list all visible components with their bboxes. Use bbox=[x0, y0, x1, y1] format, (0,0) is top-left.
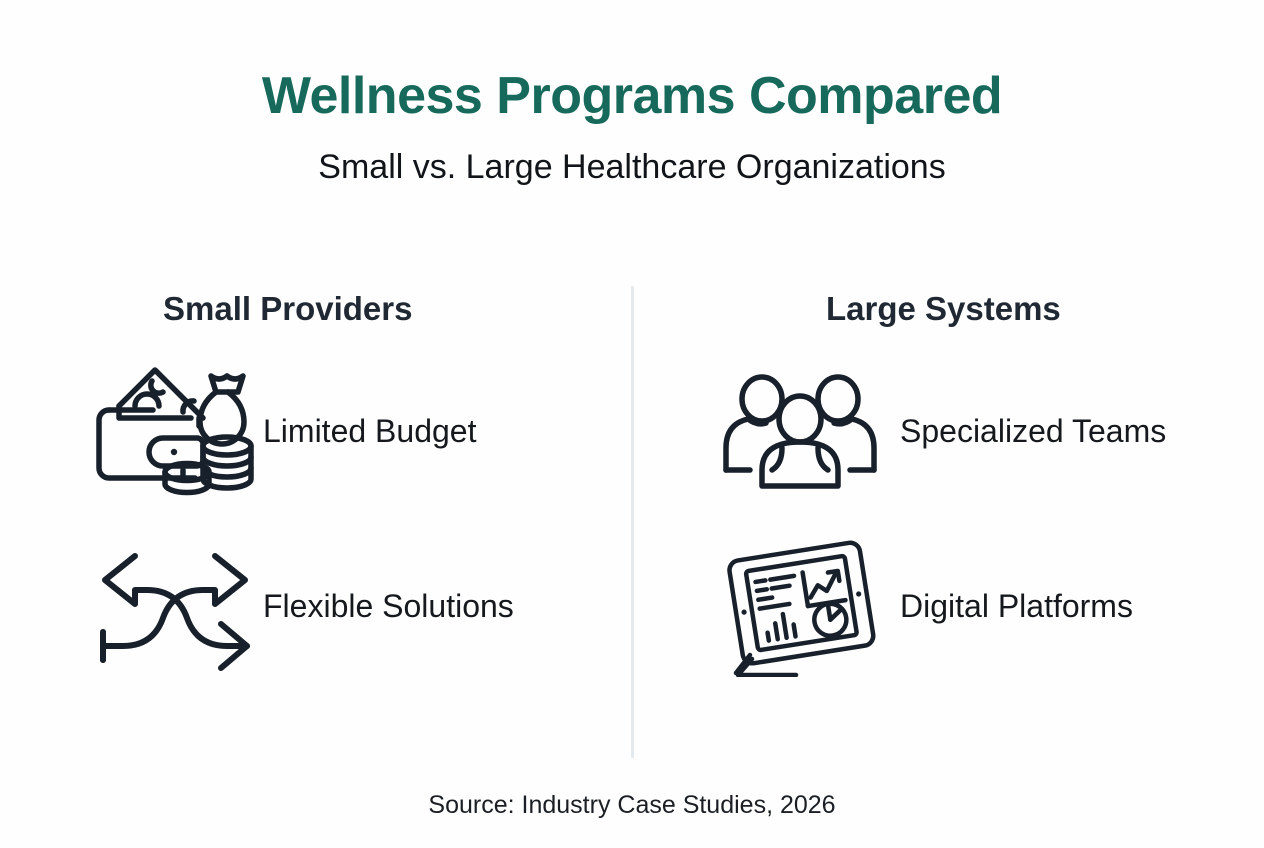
feature-label: Limited Budget bbox=[263, 412, 476, 450]
header: Wellness Programs Compared Small vs. Lar… bbox=[0, 68, 1264, 188]
column-small-providers: Small Providers bbox=[0, 288, 632, 758]
feature-label: Flexible Solutions bbox=[263, 587, 514, 625]
tablet-dashboard-icon bbox=[720, 537, 900, 677]
feature-label: Digital Platforms bbox=[900, 587, 1133, 625]
column-large-systems: Large Systems bbox=[632, 288, 1264, 758]
shuffle-arrows-icon bbox=[95, 537, 263, 677]
column-heading-large-systems: Large Systems bbox=[720, 288, 1264, 344]
column-heading-small-providers: Small Providers bbox=[95, 288, 632, 344]
infographic-poster: Wellness Programs Compared Small vs. Lar… bbox=[0, 0, 1264, 848]
feature-row: Limited Budget bbox=[95, 344, 632, 519]
feature-row: Specialized Teams bbox=[720, 344, 1264, 519]
people-group-icon bbox=[720, 362, 900, 502]
feature-label: Specialized Teams bbox=[900, 412, 1166, 450]
wallet-money-icon bbox=[95, 362, 263, 502]
feature-row: Digital Platforms bbox=[720, 519, 1264, 694]
comparison-columns: Small Providers bbox=[0, 288, 1264, 758]
source-note: Source: Industry Case Studies, 2026 bbox=[0, 791, 1264, 820]
feature-row: Flexible Solutions bbox=[95, 519, 632, 694]
page-title: Wellness Programs Compared bbox=[0, 68, 1264, 125]
page-subtitle: Small vs. Large Healthcare Organizations bbox=[0, 147, 1264, 188]
